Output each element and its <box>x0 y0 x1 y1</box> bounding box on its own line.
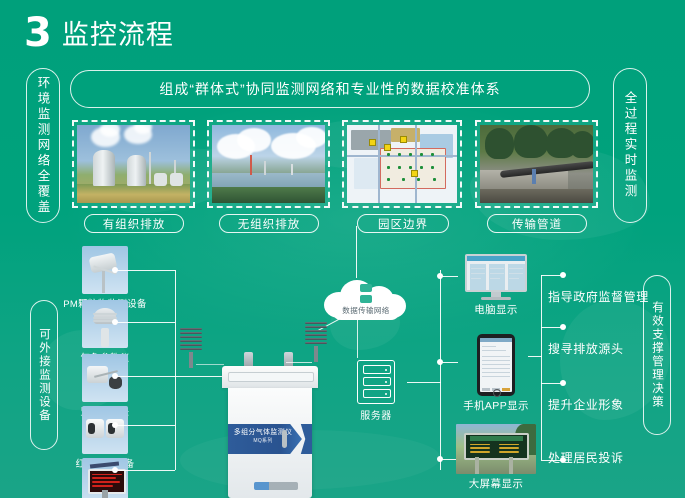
photo-ground <box>77 184 190 203</box>
infographic-canvas: 3 监控流程 环境监测网络全覆盖 全过程实时监测 可外接监测设备 有效支撑管理决… <box>0 0 685 498</box>
radiation-shield-sensor-right <box>305 322 327 362</box>
display-led-billboard[interactable]: 大屏幕显示 <box>448 424 544 491</box>
page-header: 3 监控流程 <box>24 16 174 50</box>
photo-valve <box>532 169 537 185</box>
led-billboard-icon <box>456 424 536 474</box>
sensor-cable <box>196 364 224 365</box>
connector-branch <box>115 470 175 471</box>
map-pin <box>411 170 418 177</box>
outcome-resident-complaints: 处理居民投诉 <box>548 449 624 466</box>
cloud-server-icon <box>360 284 372 304</box>
display-mobile-app[interactable]: 手机APP显示 <box>448 334 544 413</box>
display-desktop[interactable]: 电脑显示 <box>448 254 544 317</box>
map-block <box>354 158 380 189</box>
cctv-camera-icon <box>82 354 128 402</box>
connector-left-trunk <box>175 270 176 470</box>
map-road <box>378 125 380 203</box>
park-boundary-map-photo <box>347 125 457 203</box>
cloud-label: 数据传输网络 <box>324 305 408 316</box>
map-road <box>347 155 457 157</box>
connector-node <box>437 456 443 462</box>
map-pin <box>400 136 407 143</box>
connector-node <box>437 359 443 365</box>
connector-server-right <box>407 382 441 383</box>
weather-station-icon <box>82 300 128 348</box>
waterfront-industry-photo <box>212 125 325 203</box>
connector-right-trunk <box>440 270 441 470</box>
photo-cloud <box>296 127 325 149</box>
photo-palm <box>570 131 593 158</box>
cabinet-logo <box>254 482 298 490</box>
connector-branch <box>115 425 175 426</box>
server-node[interactable]: 服务器 <box>345 360 407 422</box>
photo-frame-park-boundary <box>342 120 462 208</box>
photo-tank <box>154 173 168 185</box>
connector-node <box>560 272 566 278</box>
section-number: 3 <box>24 16 52 50</box>
category-park-boundary: 园区边界 <box>357 214 449 233</box>
photo-ground <box>480 189 593 203</box>
category-transport-pipeline: 传输管道 <box>487 214 587 233</box>
connector-branch <box>115 322 175 323</box>
banner-statement: 组成“群体式”协同监测网络和专业性的数据校准体系 <box>70 70 590 108</box>
photo-palm <box>485 128 514 159</box>
label-external-devices: 可外接监测设备 <box>30 300 58 450</box>
photo-smokestack <box>264 161 266 175</box>
label-realtime-monitoring: 全过程实时监测 <box>613 68 647 223</box>
cabinet-vent <box>228 372 314 382</box>
connector-branch <box>115 270 175 271</box>
outcome-corporate-image: 提升企业形象 <box>548 396 624 413</box>
connector-cloud-top <box>356 226 357 278</box>
server-icon <box>357 360 395 404</box>
photo-chimney <box>149 152 151 183</box>
sensor-cable <box>286 362 312 363</box>
photo-frame-unorganized-emission <box>207 120 330 208</box>
map-pin <box>384 144 391 151</box>
smartphone-icon <box>477 334 515 396</box>
data-transmission-cloud: 数据传输网络 <box>324 278 408 324</box>
photo-treeline <box>212 187 325 203</box>
photo-frame-transport-pipeline <box>475 120 598 208</box>
page-title: 监控流程 <box>62 20 174 50</box>
connector-node <box>560 324 566 330</box>
connector-node <box>112 267 118 273</box>
photo-smokestack <box>250 155 252 175</box>
map-pin <box>369 139 376 146</box>
connector-node <box>437 273 443 279</box>
display-label: 大屏幕显示 <box>448 476 544 491</box>
photo-frame-organized-emission <box>72 120 195 208</box>
map-road <box>415 125 417 203</box>
display-label: 手机APP显示 <box>448 398 544 413</box>
cooling-towers-photo <box>77 125 190 203</box>
connector-node <box>560 380 566 386</box>
photo-cooling-tower <box>93 150 116 186</box>
photo-cloud <box>237 128 271 151</box>
cabinet-handle[interactable] <box>282 430 287 448</box>
photo-cooling-tower <box>127 155 146 186</box>
photo-palm <box>514 125 548 158</box>
label-network-coverage: 环境监测网络全覆盖 <box>26 68 60 223</box>
connector-node <box>112 319 118 325</box>
noise-display-icon <box>82 458 128 498</box>
desktop-monitor-icon <box>465 254 527 300</box>
gas-monitoring-cabinet[interactable]: 多组分气体监测仪 MQ系列 <box>222 352 318 498</box>
connector-node <box>112 373 118 379</box>
connector-node <box>112 422 118 428</box>
radiation-shield-sensor-left <box>180 328 202 368</box>
display-label: 电脑显示 <box>448 302 544 317</box>
connector-node <box>112 467 118 473</box>
category-organized-emission: 有组织排放 <box>84 214 184 233</box>
infrared-device-icon <box>82 406 128 454</box>
connector-branch <box>115 376 227 377</box>
photo-tank <box>170 173 184 185</box>
device-noise-monitor[interactable]: 噪音监测设备 <box>62 458 148 498</box>
pipeline-photo <box>480 125 593 203</box>
outcome-source-tracing: 搜寻排放源头 <box>548 340 624 357</box>
server-label: 服务器 <box>345 407 407 422</box>
outcome-government-supervision: 指导政府监督管理 <box>548 288 649 305</box>
photo-smokestack <box>291 164 293 175</box>
category-unorganized-emission: 无组织排放 <box>219 214 319 233</box>
